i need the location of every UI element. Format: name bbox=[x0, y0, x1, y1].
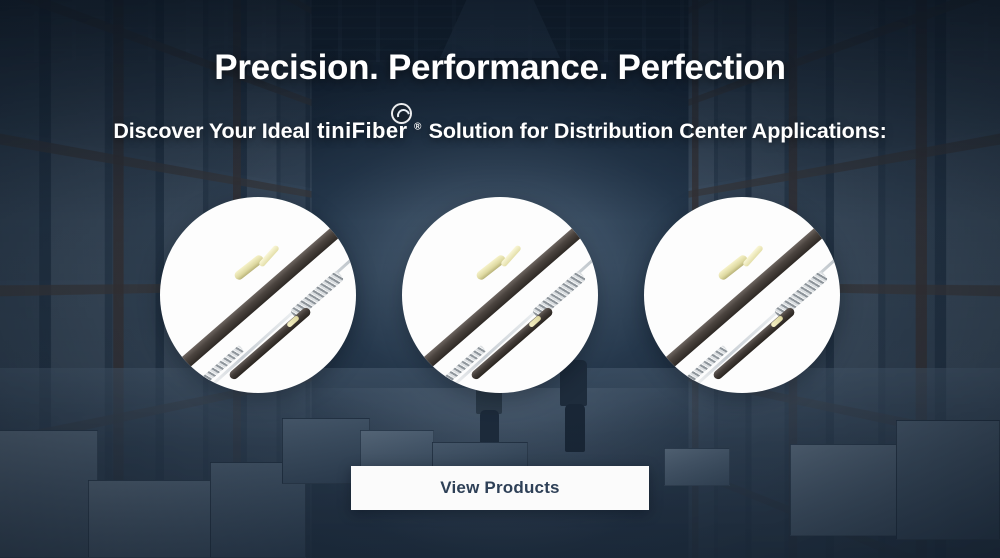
tinifiber-logo: tiniFiber ® bbox=[316, 118, 423, 144]
hero-subtitle-prefix: Discover Your Ideal bbox=[113, 119, 316, 143]
cta-container: View Products bbox=[0, 466, 1000, 510]
fiber-tip bbox=[717, 253, 749, 281]
fiber-strand bbox=[211, 230, 356, 386]
hero-subtitle-suffix: Solution for Distribution Center Applica… bbox=[429, 119, 887, 143]
fiber-tip bbox=[475, 253, 507, 281]
product-circle[interactable] bbox=[160, 197, 356, 393]
fiber-strand bbox=[695, 230, 840, 386]
tinifiber-wordmark: tiniFiber bbox=[317, 118, 407, 144]
product-circle-gallery bbox=[0, 197, 1000, 393]
product-circle[interactable] bbox=[402, 197, 598, 393]
hero-content: Precision. Performance. Perfection Disco… bbox=[0, 0, 1000, 558]
hero-banner: Precision. Performance. Perfection Disco… bbox=[0, 0, 1000, 558]
product-circle[interactable] bbox=[644, 197, 840, 393]
view-products-button[interactable]: View Products bbox=[351, 466, 649, 510]
fiber-strand bbox=[453, 230, 598, 386]
tinifiber-swoosh-circle-icon bbox=[393, 105, 410, 122]
fiber-tip bbox=[233, 253, 265, 281]
page-title: Precision. Performance. Perfection bbox=[0, 48, 1000, 88]
hero-subtitle: Discover Your Ideal tiniFiber ® Solution… bbox=[0, 118, 1000, 144]
registered-trademark-symbol: ® bbox=[414, 122, 422, 133]
